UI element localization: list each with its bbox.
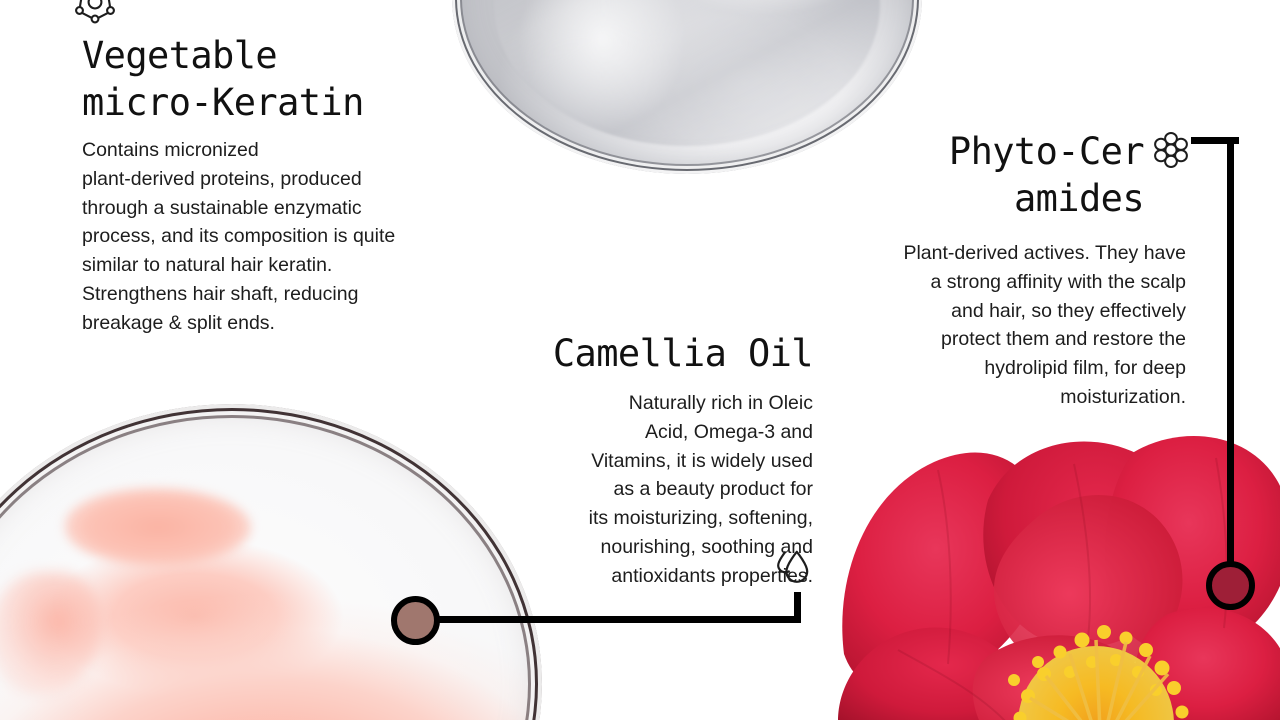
block-ceramides-body: Plant-derived actives. They have a stron… (806, 239, 1186, 412)
ceramides-marker-dot (1206, 561, 1255, 610)
block-camellia-body: Naturally rich in Oleic Acid, Omega-3 an… (455, 389, 813, 591)
molecule-icon (74, 0, 116, 28)
camellia-connector-vertical (794, 592, 801, 623)
block-phyto-ceramides: Phyto-Cer amides Plant-derived actives. … (806, 128, 1186, 412)
block-camellia-heading: Camellia Oil (455, 330, 813, 377)
ceramides-connector-vertical (1227, 137, 1234, 574)
camellia-marker-dot (391, 596, 440, 645)
block-keratin-body: Contains micronized plant-derived protei… (82, 136, 462, 338)
block-ceramides-heading: Phyto-Cer amides (806, 128, 1186, 222)
block-camellia-oil: Camellia Oil Naturally rich in Oleic Aci… (455, 330, 813, 591)
camellia-connector-horizontal (415, 616, 801, 623)
block-vegetable-micro-keratin: Vegetable micro-Keratin Contains microni… (82, 32, 462, 338)
infographic-canvas: Vegetable micro-Keratin Contains microni… (0, 0, 1280, 720)
block-keratin-heading: Vegetable micro-Keratin (82, 32, 462, 126)
